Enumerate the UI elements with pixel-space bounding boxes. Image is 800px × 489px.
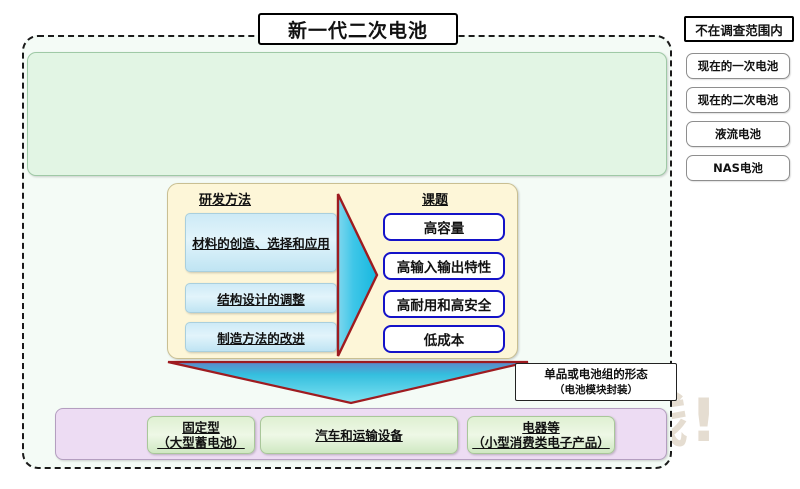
- application-item-line2: （大型蓄电池）: [157, 435, 245, 450]
- form-callout-line2: （电池模块封装）: [554, 383, 638, 397]
- application-item[interactable]: 固定型 （大型蓄电池）: [147, 416, 255, 454]
- rnd-method-item[interactable]: 材料的创造、选择和应用: [185, 213, 337, 272]
- rnd-topic-item[interactable]: 高输入输出特性: [383, 252, 505, 280]
- battery-panel: [27, 52, 667, 176]
- rnd-topic-heading: 课题: [422, 189, 448, 208]
- down-arrow-icon: [165, 360, 531, 410]
- rnd-topic-item[interactable]: 低成本: [383, 325, 505, 353]
- application-item-line1: 电器等: [522, 420, 560, 435]
- out-of-scope-item[interactable]: 现在的二次电池: [686, 87, 790, 113]
- form-callout: 单品或电池组的形态 （电池模块封装）: [515, 363, 677, 401]
- out-of-scope-item[interactable]: NAS电池: [686, 155, 790, 181]
- form-callout-line1: 单品或电池组的形态: [544, 367, 648, 383]
- rnd-method-item[interactable]: 制造方法的改进: [185, 322, 337, 352]
- right-arrow-icon: [333, 192, 379, 362]
- page-title: 新一代二次电池: [258, 13, 458, 45]
- out-of-scope-item[interactable]: 现在的一次电池: [686, 53, 790, 79]
- application-item[interactable]: 汽车和运输设备: [260, 416, 458, 454]
- application-item-line2: （小型消费类电子产品）: [472, 435, 610, 450]
- out-of-scope-item[interactable]: 液流电池: [686, 121, 790, 147]
- application-item-line1: 汽车和运输设备: [315, 428, 403, 443]
- out-of-scope-title: 不在调查范围内: [684, 16, 794, 42]
- rnd-topic-item[interactable]: 高容量: [383, 213, 505, 241]
- application-item-line1: 固定型: [182, 420, 220, 435]
- rnd-topic-item[interactable]: 高耐用和高安全: [383, 290, 505, 318]
- application-item[interactable]: 电器等 （小型消费类电子产品）: [467, 416, 615, 454]
- rnd-method-item[interactable]: 结构设计的调整: [185, 283, 337, 313]
- diagram-canvas: 日经技术在线! 新一代二次电池 电池种类 全固体二次电池 空气电池 钠离子电池 …: [0, 0, 800, 489]
- rnd-method-heading: 研发方法: [199, 189, 251, 208]
